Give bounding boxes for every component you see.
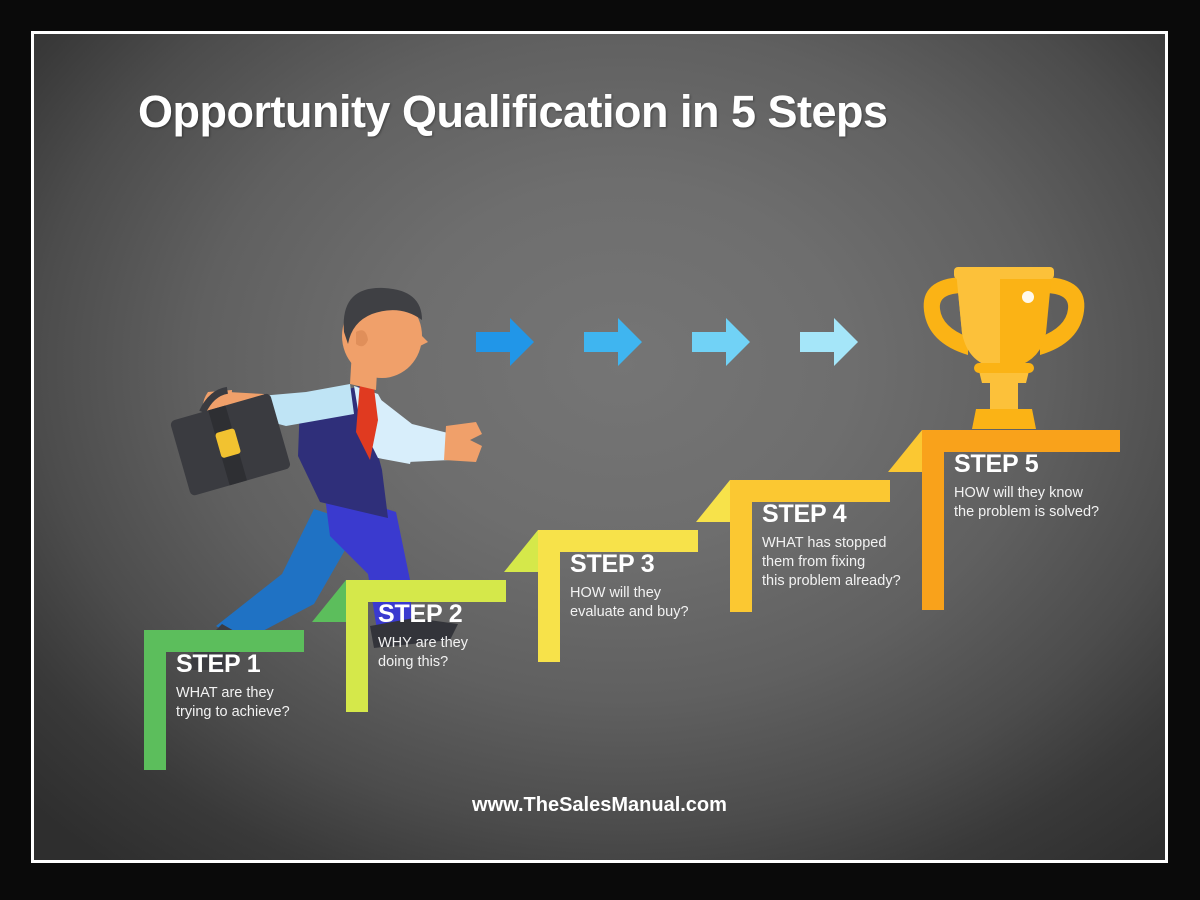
slide-root: Opportunity Qualification in 5 Steps — [0, 0, 1200, 900]
slide-frame-border — [31, 31, 1168, 863]
